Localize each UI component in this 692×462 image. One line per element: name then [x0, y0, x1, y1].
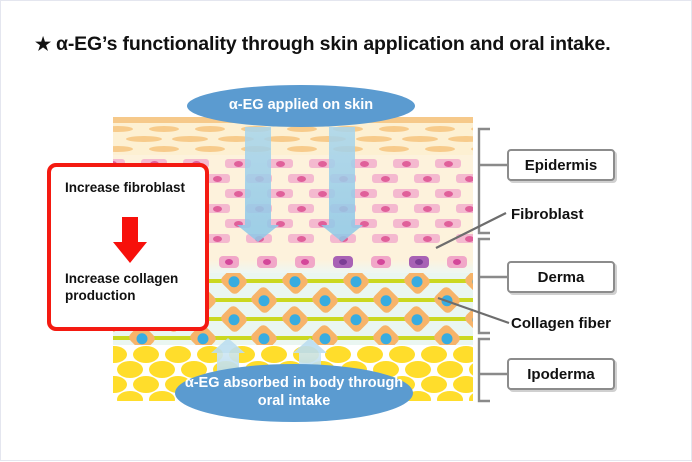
diagram-page: ★α-EG’s functionality through skin appli…	[0, 0, 692, 461]
label-derma: Derma	[507, 261, 615, 293]
label-fibroblast: Fibroblast	[511, 206, 584, 223]
label-epidermis: Epidermis	[507, 149, 615, 181]
label-connectors	[1, 1, 692, 462]
label-ipoderma: Ipoderma	[507, 358, 615, 390]
label-collagen-fiber: Collagen fiber	[511, 315, 611, 332]
